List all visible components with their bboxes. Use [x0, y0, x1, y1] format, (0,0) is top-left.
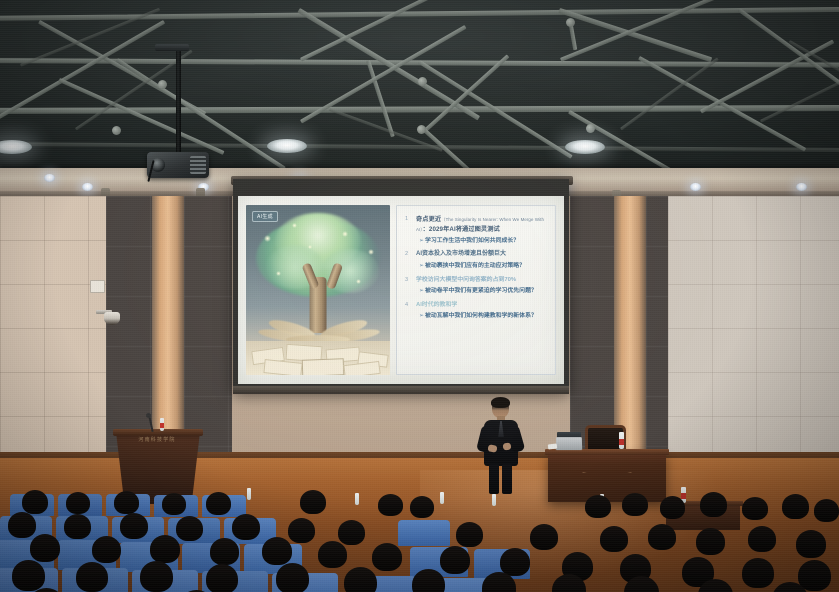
projection-screen: AI生成 1 奇点更近（The Singularity Is Nearer: W…	[238, 196, 564, 384]
ceiling-downlight	[267, 139, 307, 153]
ceiling-downlight	[0, 140, 32, 154]
slide-subitem-1: ➢学习工作生活中我们如何共同成长？	[419, 237, 548, 247]
audience-head	[22, 490, 48, 514]
audience-head	[700, 492, 727, 517]
audience-head	[120, 513, 148, 539]
ceiling-truss-structure	[0, 0, 839, 178]
audience-head	[742, 497, 768, 520]
audience-head	[30, 534, 60, 562]
laptop-icon	[556, 437, 582, 450]
audience-head	[206, 492, 231, 515]
water-bottle	[355, 493, 359, 505]
audience-head	[210, 538, 239, 565]
wall-panel-right	[668, 196, 839, 464]
wall-socket-plate	[90, 280, 105, 293]
slide-subitem-text: 被动瓦解中我们如何构建教和学的新体系？	[425, 313, 537, 319]
bullet-marker-icon: ➢	[419, 313, 424, 319]
ptz-dome-camera-icon	[104, 312, 120, 325]
presenter-hair	[491, 397, 510, 408]
audience-head	[796, 530, 826, 558]
audience-head	[378, 494, 403, 516]
recessed-downlight	[44, 174, 55, 182]
audience-head	[456, 522, 483, 547]
slide-item-number: 4	[405, 301, 416, 310]
audience-head	[288, 518, 315, 543]
lectern-top	[113, 429, 203, 436]
audience-head	[530, 524, 558, 550]
wall-column-warm-left	[152, 196, 184, 464]
auditorium-photo: AI生成 1 奇点更近（The Singularity Is Nearer: W…	[0, 0, 839, 592]
audience-head	[585, 495, 611, 518]
audience-head	[814, 499, 839, 522]
audience-seating	[0, 466, 839, 592]
slide-image-books	[246, 341, 390, 375]
ceiling-downlight	[565, 140, 605, 154]
audience-head	[372, 543, 402, 571]
slide-item-2: 2 AI资本投入及市场增速且份额巨大	[405, 250, 548, 260]
audience-head	[338, 520, 365, 545]
lectern-logo-text: 河南科技学院	[126, 436, 188, 445]
wall-panel-dark-far-right	[646, 196, 668, 464]
audience-head	[262, 537, 292, 565]
slide-item-title-cn-a: 奇点更近	[416, 216, 441, 223]
audience-head	[150, 535, 180, 563]
slide-item-number: 1	[405, 215, 416, 224]
water-bottle	[619, 432, 624, 449]
slide-item-title: AI资本投入及市场增速且份额巨大	[416, 250, 506, 260]
audience-head	[114, 491, 139, 514]
audience-head	[782, 494, 809, 519]
wall-panel-dark-left	[106, 196, 152, 464]
slide-item-title: AI时代的教和学	[416, 301, 457, 311]
paper-sheet	[548, 444, 557, 450]
slide-text-panel: 1 奇点更近（The Singularity Is Nearer: When W…	[396, 205, 556, 375]
wall-panel-dark-mid	[184, 196, 232, 464]
water-bottle	[440, 492, 444, 504]
bullet-marker-icon: ➢	[419, 238, 424, 244]
ai-generated-badge: AI生成	[252, 211, 278, 222]
wall-panel-left	[0, 196, 106, 464]
audience-head	[64, 514, 91, 539]
audience-head	[140, 561, 173, 592]
audience-head	[344, 567, 377, 592]
audience-head	[648, 524, 676, 550]
audience-head	[660, 496, 685, 519]
wall-column-warm-right	[614, 196, 646, 464]
audience-head	[300, 490, 326, 514]
water-bottle	[247, 488, 251, 500]
auditorium-seat	[398, 520, 450, 546]
audience-head	[410, 496, 434, 518]
slide-item-title: 奇点更近（The Singularity Is Nearer: When We …	[416, 215, 548, 235]
audience-head	[696, 528, 725, 555]
slide-item-number: 3	[405, 276, 416, 285]
audience-head	[176, 516, 203, 541]
projector-mount	[155, 44, 189, 51]
audience-head	[600, 526, 628, 552]
slide-subitem-text: 被动卷平中我们有更紧迫的学习优先问题？	[425, 288, 537, 294]
recessed-downlight	[796, 183, 807, 191]
audience-head	[76, 562, 108, 592]
recessed-downlight	[82, 183, 93, 191]
audience-head	[748, 526, 776, 552]
audience-head	[622, 493, 648, 516]
slide-image-tree: AI生成	[246, 205, 390, 375]
audience-head	[206, 564, 238, 592]
slide-subitem-2: ➢被动裹挟中我们应有的主动应对策略？	[419, 262, 548, 272]
slide-item-3: 3 学校访问大模型中问询答案的占到70%	[405, 276, 548, 286]
audience-head	[742, 558, 774, 588]
audience-head	[440, 546, 470, 574]
audience-head	[500, 548, 530, 576]
screen-bottom-bar	[233, 386, 569, 394]
audience-head	[276, 563, 309, 592]
bullet-marker-icon: ➢	[419, 288, 424, 294]
presentation-slide: AI生成 1 奇点更近（The Singularity Is Nearer: W…	[238, 196, 564, 384]
microphone-icon	[146, 413, 151, 418]
ceiling-projector-icon	[147, 152, 209, 178]
audience-head	[8, 512, 36, 538]
audience-head	[232, 514, 260, 540]
water-bottle	[160, 418, 164, 431]
water-bottle	[492, 494, 496, 506]
audience-head	[12, 560, 45, 591]
audience-head	[92, 536, 121, 563]
slide-subitem-text: 被动裹挟中我们应有的主动应对策略？	[425, 263, 525, 269]
slide-subitem-4: ➢被动瓦解中我们如何构建教和学的新体系？	[419, 312, 548, 322]
slide-item-4: 4 AI时代的教和学	[405, 301, 548, 311]
slide-item-title-cn-b: ：2029年AI将通过图灵测试	[423, 226, 500, 233]
audience-head	[412, 569, 445, 592]
recessed-downlight	[690, 183, 701, 191]
slide-item-1: 1 奇点更近（The Singularity Is Nearer: When W…	[405, 215, 548, 235]
slide-item-number: 2	[405, 250, 416, 259]
audience-head	[318, 541, 347, 568]
audience-head	[66, 492, 90, 514]
slide-subitem-text: 学习工作生活中我们如何共同成长？	[425, 238, 519, 244]
projector-vent-icon	[190, 156, 206, 174]
wall-panel-dark-right	[570, 196, 614, 464]
slide-item-title: 学校访问大模型中问询答案的占到70%	[416, 276, 516, 286]
audience-head	[162, 493, 186, 515]
slide-subitem-3: ➢被动卷平中我们有更紧迫的学习优先问题？	[419, 287, 548, 297]
bullet-marker-icon: ➢	[419, 263, 424, 269]
presenter-left-hand	[487, 444, 497, 452]
